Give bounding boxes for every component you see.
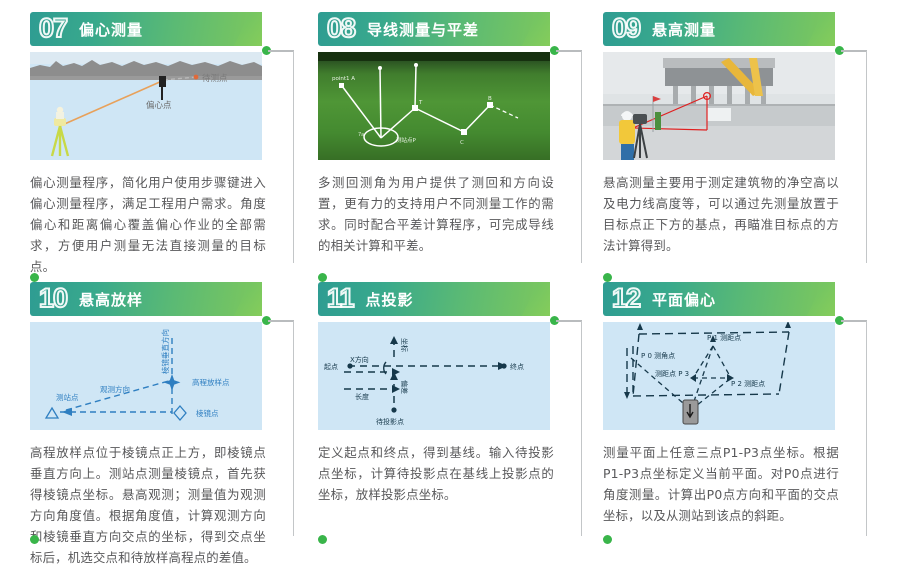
feature-cards-page: 07 偏心测量 待测点 偏心点 [0, 0, 912, 583]
svg-text:P 0 测角点: P 0 测角点 [641, 351, 675, 360]
svg-text:终点: 终点 [510, 362, 524, 371]
card-banner-08: 08 导线测量与平差 [318, 12, 550, 46]
illustration-construction-photo [603, 52, 835, 160]
connector-line-11 [556, 320, 582, 322]
card-number-11: 11 [327, 285, 354, 314]
connector-line-10 [268, 320, 294, 322]
card-right-rule-11 [581, 321, 582, 536]
svg-text:坐标: 坐标 [400, 338, 409, 352]
card-title-08: 导线测量与平差 [367, 19, 479, 40]
feature-card-08[interactable]: 08 导线测量与平差 [318, 12, 580, 282]
svg-text:测距点 P 3: 测距点 P 3 [655, 370, 689, 378]
illustration-point-projection: X方向 起点 长度 终点 坐标 偏差 待投影点 [318, 322, 550, 430]
illustration-traverse-photo: point1 A 测站点P 7a T B C [318, 52, 550, 160]
card-banner-07: 07 偏心测量 [30, 12, 262, 46]
card-title-10: 悬高放样 [79, 289, 143, 310]
feature-card-10[interactable]: 10 悬高放样 [30, 282, 292, 550]
card-title-11: 点投影 [366, 289, 414, 310]
bottom-dot-12 [603, 535, 612, 544]
svg-text:7a: 7a [358, 132, 364, 138]
svg-text:B: B [488, 96, 492, 102]
card-banner-11: 11 点投影 [318, 282, 550, 316]
card-body-12: 测量平面上任意三点P1-P3点坐标。根据P1-P3点坐标定义当前平面。对P0点进… [603, 442, 839, 526]
connector-line-09 [841, 50, 867, 52]
illustration-plane-eccentric: P 0 测角点 P 1 测距点 P 2 测距点 测距点 P 3 [603, 322, 835, 430]
card-body-11: 定义起点和终点，得到基线。输入待投影点坐标，计算待投影点在基线上投影点的坐标，放… [318, 442, 554, 505]
feature-card-07[interactable]: 07 偏心测量 待测点 偏心点 [30, 12, 292, 282]
card-title-07: 偏心测量 [79, 19, 143, 40]
card-right-rule-07 [293, 51, 294, 263]
card-number-09: 09 [612, 15, 640, 44]
bottom-dot-07 [30, 273, 39, 282]
svg-text:偏心点: 偏心点 [146, 100, 172, 111]
svg-text:长度: 长度 [355, 392, 369, 401]
connector-line-07 [268, 50, 294, 52]
cards-grid: 07 偏心测量 待测点 偏心点 [0, 0, 912, 583]
svg-text:偏差: 偏差 [400, 380, 409, 394]
card-banner-12: 12 平面偏心 [603, 282, 835, 316]
card-right-rule-08 [581, 51, 582, 263]
connector-line-12 [841, 320, 867, 322]
bottom-dot-09 [603, 273, 612, 282]
feature-card-12[interactable]: 12 平面偏心 [603, 282, 865, 550]
card-number-10: 10 [39, 285, 67, 314]
card-body-07: 偏心测量程序，简化用户使用步骤键进入偏心测量程序，满足工程用户需求。角度偏心和距… [30, 172, 266, 277]
svg-text:待投影点: 待投影点 [376, 417, 404, 426]
card-number-07: 07 [39, 15, 67, 44]
connector-line-08 [556, 50, 582, 52]
svg-text:C: C [460, 140, 464, 146]
illustration-eccentric-measurement: 待测点 偏心点 [30, 52, 262, 160]
card-body-09: 悬高测量主要用于测定建筑物的净空高以及电力线高度等，可以通过先测量放置于目标点正… [603, 172, 839, 256]
svg-text:X方向: X方向 [350, 355, 369, 364]
bottom-dot-10 [30, 535, 39, 544]
card-title-09: 悬高测量 [652, 19, 716, 40]
svg-text:P 2 测距点: P 2 测距点 [731, 380, 765, 388]
svg-text:测站点: 测站点 [56, 392, 79, 402]
svg-text:起点: 起点 [324, 363, 338, 371]
svg-text:棱镜点: 棱镜点 [196, 408, 219, 418]
card-banner-10: 10 悬高放样 [30, 282, 262, 316]
svg-text:测站点P: 测站点P [396, 136, 417, 144]
card-number-12: 12 [612, 285, 640, 314]
svg-text:T: T [418, 100, 423, 106]
bottom-dot-08 [318, 273, 327, 282]
card-body-10: 高程放样点位于棱镜点正上方，即棱镜点垂直方向上。测站点测量棱镜点，首先获得棱镜点… [30, 442, 266, 568]
svg-text:待测点: 待测点 [202, 73, 228, 84]
svg-text:观测方向: 观测方向 [100, 384, 130, 394]
card-right-rule-10 [293, 321, 294, 536]
card-body-08: 多测回测角为用户提供了测回和方向设置，更有力的支持用户不同测量工作的需求。同时配… [318, 172, 554, 256]
card-banner-09: 09 悬高测量 [603, 12, 835, 46]
card-title-12: 平面偏心 [652, 289, 716, 310]
card-right-rule-09 [866, 51, 867, 263]
card-number-08: 08 [327, 15, 355, 44]
bottom-dot-11 [318, 535, 327, 544]
feature-card-09[interactable]: 09 悬高测量 [603, 12, 865, 282]
svg-text:P 1 测距点: P 1 测距点 [707, 334, 741, 342]
svg-text:高程放样点: 高程放样点 [192, 377, 230, 387]
card-right-rule-12 [866, 321, 867, 536]
feature-card-11[interactable]: 11 点投影 [318, 282, 580, 550]
svg-text:point1 A: point1 A [332, 76, 355, 82]
illustration-elevation-stakeout: 测站点 观测方向 棱镜垂直方向 高程放样点 棱镜点 [30, 322, 262, 430]
svg-text:棱镜垂直方向: 棱镜垂直方向 [160, 329, 170, 374]
